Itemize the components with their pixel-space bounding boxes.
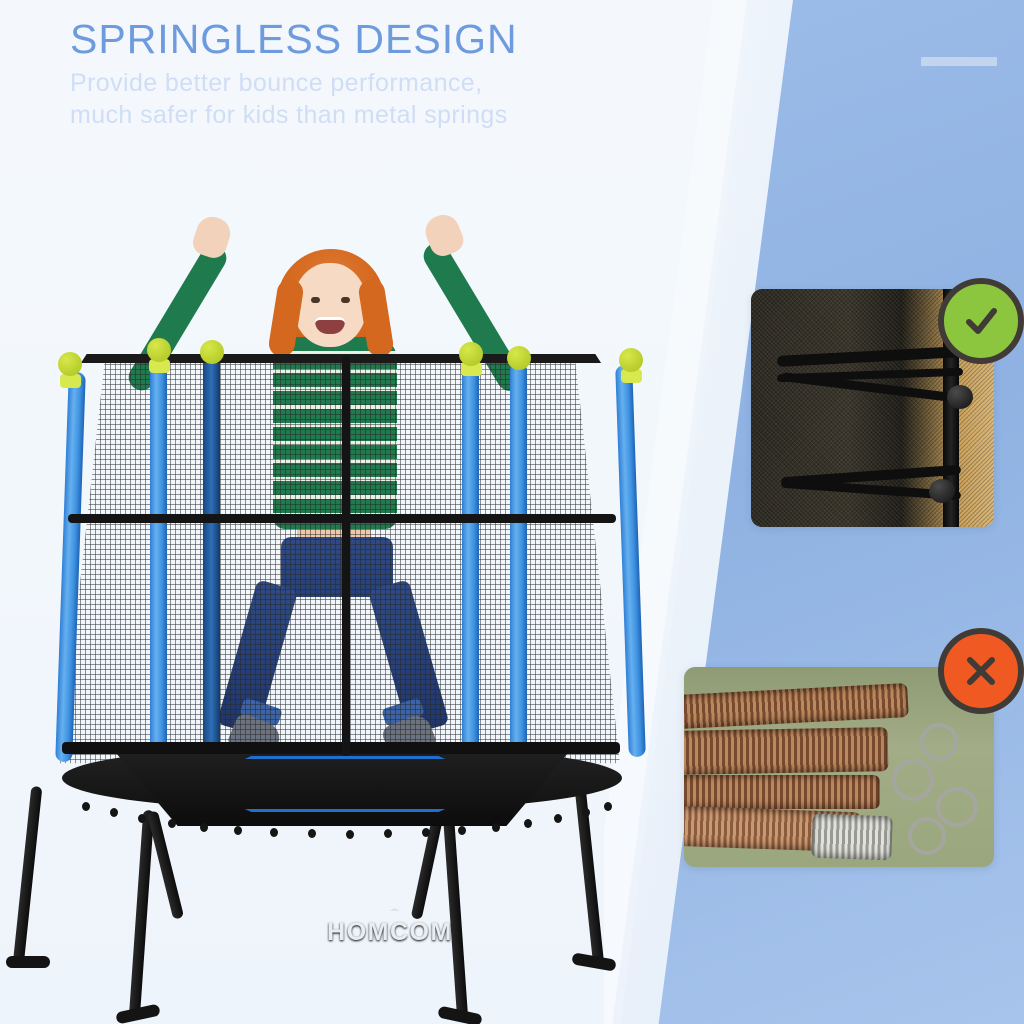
enclosure-pole-2 — [150, 355, 167, 755]
top-right-accent-bar — [921, 57, 997, 66]
spring-hook — [920, 723, 958, 761]
bungee-cord — [82, 802, 90, 811]
enclosure-pole-5 — [510, 362, 527, 760]
bungee-photo-cord-ball — [947, 385, 973, 409]
net-top-rail — [52, 354, 630, 363]
net-zipper — [342, 356, 350, 756]
trampoline-leg-2 — [129, 810, 155, 1020]
net-bottom-rail — [62, 742, 620, 754]
pole-cap-4 — [459, 342, 483, 366]
trampoline-foot-1 — [6, 956, 50, 968]
page-title: SPRINGLESS DESIGN — [70, 18, 750, 61]
spring-hook — [892, 759, 934, 801]
safety-enclosure-net — [60, 360, 620, 780]
x-icon — [961, 651, 1001, 691]
badge-rejected — [938, 628, 1024, 714]
spring-coil — [811, 814, 892, 861]
child-right-eye — [341, 297, 350, 303]
bungee-cord — [582, 808, 590, 817]
bungee-photo-cord-ball — [929, 479, 955, 503]
check-icon — [959, 299, 1003, 343]
badge-approved — [938, 278, 1024, 364]
bungee-cord — [308, 829, 316, 838]
bungee-cord — [384, 829, 392, 838]
subtitle-line-2: much safer for kids than metal springs — [70, 99, 750, 131]
bungee-cord — [168, 819, 176, 828]
trampoline-foot-6 — [571, 952, 616, 971]
subtitle-line-1: Provide better bounce performance, — [70, 67, 750, 99]
bungee-cord — [200, 823, 208, 832]
child-head — [293, 263, 367, 347]
product-photo: HOMCOM — [0, 150, 700, 1024]
pole-collar-1 — [60, 374, 81, 388]
pole-cap-6 — [619, 348, 643, 372]
spring-hook — [908, 817, 946, 855]
bungee-cord — [458, 826, 466, 835]
bungee-cord — [524, 819, 532, 828]
child-left-eye — [311, 297, 320, 303]
trampoline-leg-1 — [13, 786, 43, 966]
pole-cap-5 — [507, 346, 531, 370]
spring-hook — [936, 787, 978, 827]
brand-logo: HOMCOM — [300, 910, 480, 954]
bungee-cord — [604, 802, 612, 811]
enclosure-pole-3 — [203, 355, 220, 755]
enclosure-pole-4 — [462, 358, 479, 758]
bungee-cord-row — [72, 798, 612, 838]
child-left-hand — [190, 213, 235, 262]
pole-cap-2 — [147, 338, 171, 362]
bungee-cord — [492, 823, 500, 832]
headline-block: SPRINGLESS DESIGN Provide better bounce … — [70, 18, 750, 131]
enclosure-pole-6 — [615, 365, 646, 757]
bungee-cord — [422, 828, 430, 837]
bungee-cord — [138, 814, 146, 823]
bungee-cord — [234, 826, 242, 835]
bungee-cord — [346, 830, 354, 839]
page-subtitle: Provide better bounce performance, much … — [70, 67, 750, 131]
spring-coil — [684, 775, 880, 809]
pole-cap-3 — [200, 340, 224, 364]
bungee-cord — [270, 828, 278, 837]
bungee-cord — [554, 814, 562, 823]
bungee-cord — [110, 808, 118, 817]
infographic-canvas: SPRINGLESS DESIGN Provide better bounce … — [0, 0, 1024, 1024]
spring-coil — [684, 727, 888, 775]
pole-cap-1 — [58, 352, 82, 376]
